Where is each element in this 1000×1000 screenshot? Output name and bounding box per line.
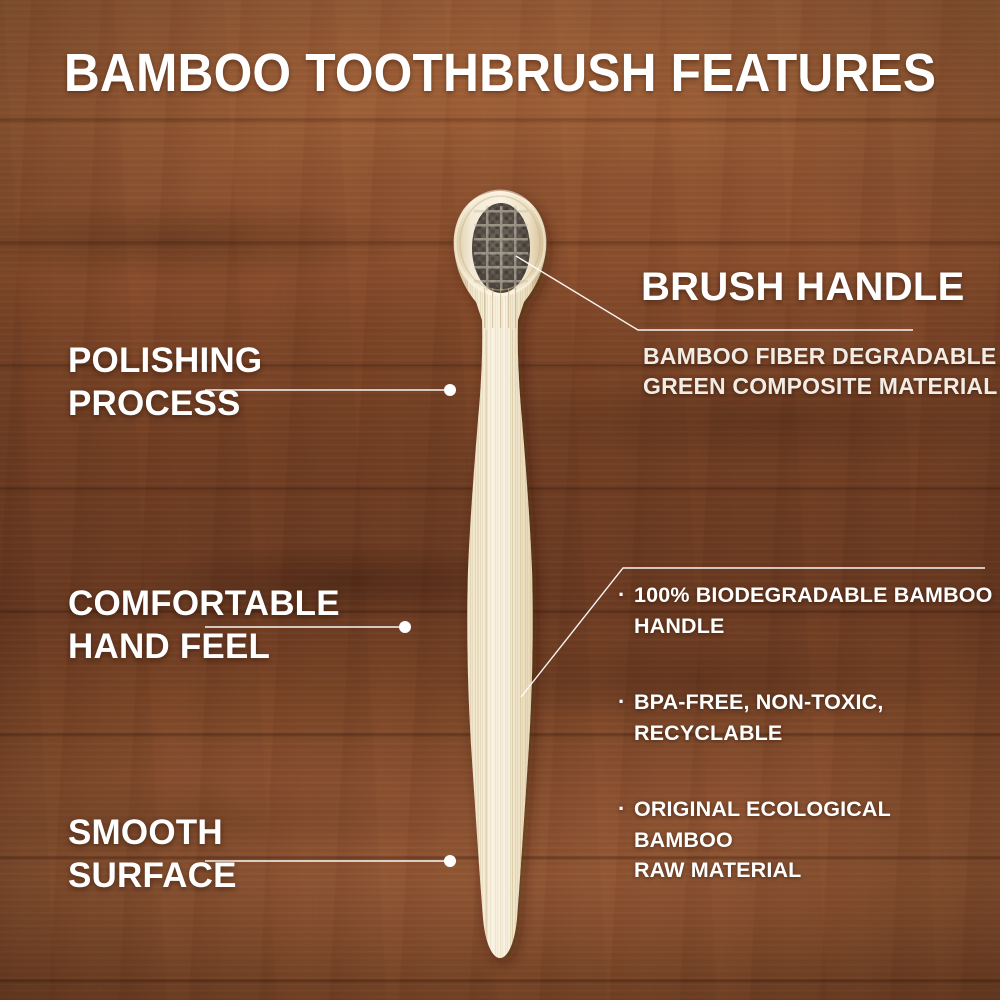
- callout-line-1: SMOOTH: [68, 812, 237, 855]
- callout-brush-handle-heading: BRUSH HANDLE: [641, 265, 965, 310]
- callout-line-2: PROCESS: [68, 383, 262, 426]
- bullet-line-2: RECYCLABLE: [634, 721, 782, 745]
- leader-dot-polishing: [444, 384, 456, 396]
- callout-line-2: HAND FEEL: [68, 626, 340, 669]
- bullet-line-1: ORIGINAL ECOLOGICAL BAMBOO: [634, 797, 890, 852]
- callout-polishing-process: POLISHING PROCESS: [68, 340, 262, 425]
- list-item: BPA-FREE, NON-TOXIC, RECYCLABLE: [618, 687, 993, 748]
- page-title: BAMBOO TOOTHBRUSH FEATURES: [40, 46, 960, 100]
- feature-bullet-list: 100% BIODEGRADABLE BAMBOO HANDLE BPA-FRE…: [618, 580, 993, 886]
- infographic-canvas: BAMBOO TOOTHBRUSH FEATURES POLISHING PRO…: [0, 0, 1000, 1000]
- bullet-line-2: HANDLE: [634, 614, 724, 638]
- subtext-line-1: BAMBOO FIBER DEGRADABLE: [643, 341, 998, 371]
- list-item: 100% BIODEGRADABLE BAMBOO HANDLE: [618, 580, 993, 641]
- callout-line-2: SURFACE: [68, 855, 237, 898]
- bullet-line-1: BPA-FREE, NON-TOXIC,: [634, 690, 883, 714]
- callout-line-1: POLISHING: [68, 340, 262, 383]
- callout-comfortable-hand-feel: COMFORTABLE HAND FEEL: [68, 583, 340, 668]
- leader-dot-comfort: [399, 621, 411, 633]
- bullet-line-1: 100% BIODEGRADABLE BAMBOO: [634, 583, 993, 607]
- callout-line-1: COMFORTABLE: [68, 583, 340, 626]
- leader-dot-smooth: [444, 855, 456, 867]
- subtext-line-2: GREEN COMPOSITE MATERIAL: [643, 371, 998, 401]
- callout-smooth-surface: SMOOTH SURFACE: [68, 812, 237, 897]
- bullet-line-2: RAW MATERIAL: [634, 858, 801, 882]
- list-item: ORIGINAL ECOLOGICAL BAMBOO RAW MATERIAL: [618, 794, 993, 886]
- callout-brush-handle-subtext: BAMBOO FIBER DEGRADABLE GREEN COMPOSITE …: [643, 341, 998, 402]
